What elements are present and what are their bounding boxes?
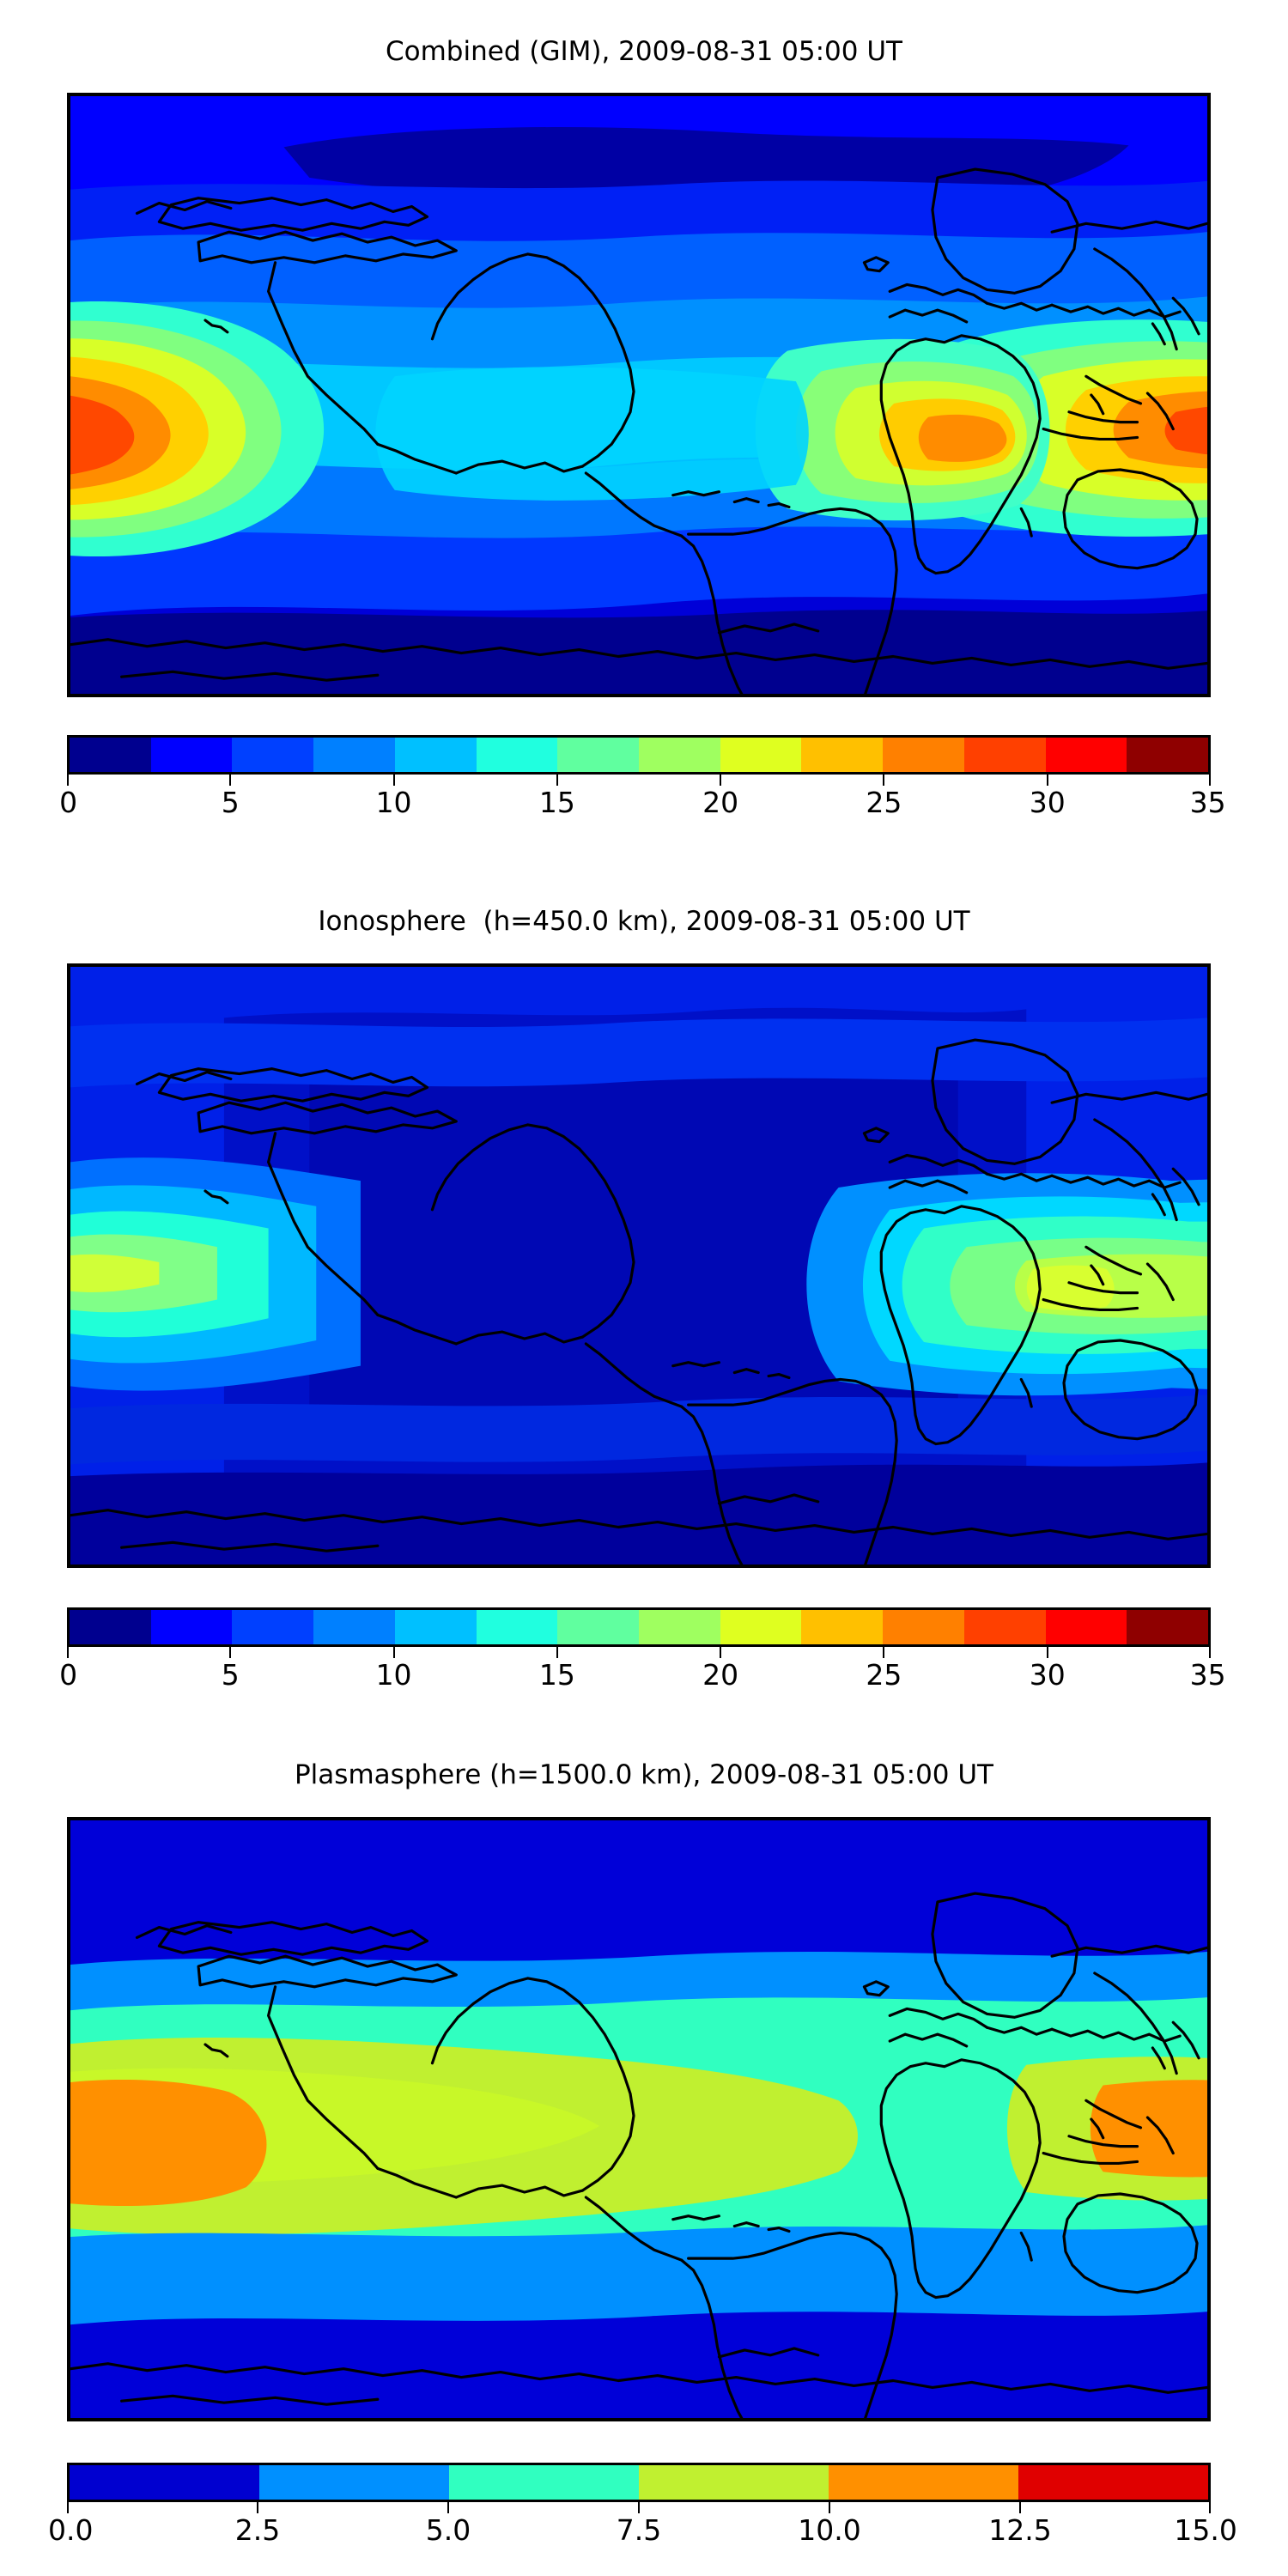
colorbar-tick-label: 30 [1030, 1659, 1066, 1692]
colorbar-segment [557, 1610, 639, 1644]
colorbar-segment [232, 1610, 313, 1644]
colorbar-combined: 05101520253035 [67, 735, 1211, 824]
colorbar-tick-label: 25 [866, 1659, 902, 1692]
colorbar-tick-label: 15.0 [1174, 2514, 1236, 2547]
colorbar-segment [313, 1610, 395, 1644]
colorbar-segment [639, 1610, 720, 1644]
colorbar-segment [151, 738, 233, 772]
panel-title-plasmasphere: Plasmasphere (h=1500.0 km), 2009-08-31 0… [0, 1762, 1288, 1789]
colorbar-tick [556, 1647, 558, 1658]
colorbar-tick [883, 1647, 884, 1658]
colorbar-segment [70, 1610, 151, 1644]
colorbar-tick-label: 2.5 [235, 2514, 280, 2547]
colorbar-segment [557, 738, 639, 772]
colorbar-tick [447, 2502, 449, 2513]
colorbar-tick-label: 10 [376, 1659, 412, 1692]
colorbar-tick [720, 1647, 721, 1658]
panel-combined-gim: Combined (GIM), 2009-08-31 05:00 UT [0, 0, 1288, 859]
colorbar-track-ionosphere [67, 1607, 1211, 1647]
colorbar-tick [1047, 1647, 1048, 1658]
colorbar-tick-label: 20 [702, 1659, 738, 1692]
colorbar-tick-label: 12.5 [988, 2514, 1051, 2547]
colorbar-labels-ionosphere: 05101520253035 [67, 1659, 1211, 1697]
colorbar-tick-label: 5.0 [426, 2514, 471, 2547]
colorbar-tick [67, 775, 69, 786]
colorbar-segment [1018, 2465, 1208, 2500]
colorbar-tick-label: 35 [1190, 787, 1226, 819]
colorbar-tick [67, 2502, 69, 2513]
colorbar-tick-label: 20 [702, 787, 738, 819]
figure-root: Combined (GIM), 2009-08-31 05:00 UT [0, 0, 1288, 2576]
colorbar-labels-combined: 05101520253035 [67, 787, 1211, 824]
colorbar-ticks-plasmasphere [67, 2502, 1211, 2514]
colorbar-tick-label: 0 [59, 1659, 77, 1692]
colorbar-segment [70, 2465, 259, 2500]
colorbar-tick-label: 7.5 [617, 2514, 661, 2547]
colorbar-segment [801, 1610, 883, 1644]
colorbar-tick [829, 2502, 830, 2513]
colorbar-tick-label: 10 [376, 787, 412, 819]
colorbar-ticks-combined [67, 775, 1211, 787]
colorbar-ionosphere: 05101520253035 [67, 1607, 1211, 1697]
colorbar-segment [829, 2465, 1018, 2500]
panel-title-ionosphere: Ionosphere (h=450.0 km), 2009-08-31 05:0… [0, 908, 1288, 935]
colorbar-segment [1127, 1610, 1208, 1644]
colorbar-segment [883, 1610, 964, 1644]
colorbar-tick [1047, 775, 1048, 786]
colorbar-segment [639, 738, 720, 772]
colorbar-segment [449, 2465, 639, 2500]
colorbar-segment [964, 738, 1046, 772]
map-canvas-ionosphere [70, 967, 1207, 1564]
colorbar-segment [259, 2465, 449, 2500]
map-combined-gim [67, 93, 1211, 697]
colorbar-plasmasphere: 0.02.55.07.510.012.515.0 [67, 2463, 1211, 2552]
colorbar-tick [638, 2502, 640, 2513]
colorbar-tick [720, 775, 721, 786]
colorbar-segment [1046, 1610, 1127, 1644]
colorbar-segment [964, 1610, 1046, 1644]
panel-title-combined: Combined (GIM), 2009-08-31 05:00 UT [0, 39, 1288, 65]
colorbar-tick-label: 15 [539, 1659, 575, 1692]
colorbar-tick [1019, 2502, 1021, 2513]
colorbar-tick-label: 5 [222, 1659, 240, 1692]
colorbar-segment [883, 738, 964, 772]
colorbar-tick-label: 15 [539, 787, 575, 819]
colorbar-segment [639, 2465, 829, 2500]
colorbar-segment [151, 1610, 233, 1644]
colorbar-tick [1209, 1647, 1211, 1658]
colorbar-segment [477, 738, 558, 772]
colorbar-segment [1046, 738, 1127, 772]
colorbar-tick [883, 775, 884, 786]
colorbar-tick-label: 25 [866, 787, 902, 819]
colorbar-tick-label: 30 [1030, 787, 1066, 819]
map-ionosphere [67, 963, 1211, 1568]
colorbar-tick-label: 0.0 [48, 2514, 93, 2547]
colorbar-segment [313, 738, 395, 772]
panel-plasmasphere: Plasmasphere (h=1500.0 km), 2009-08-31 0… [0, 1743, 1288, 2576]
colorbar-track-plasmasphere [67, 2463, 1211, 2502]
colorbar-segment [395, 738, 477, 772]
map-plasmasphere [67, 1817, 1211, 2421]
colorbar-tick-label: 5 [222, 787, 240, 819]
colorbar-tick-label: 35 [1190, 1659, 1226, 1692]
colorbar-tick [229, 1647, 231, 1658]
panel-ionosphere: Ionosphere (h=450.0 km), 2009-08-31 05:0… [0, 884, 1288, 1743]
colorbar-segment [1127, 738, 1208, 772]
colorbar-tick [229, 775, 231, 786]
colorbar-segment [720, 1610, 802, 1644]
colorbar-segment [70, 738, 151, 772]
map-canvas-combined [70, 96, 1207, 694]
colorbar-segment [232, 738, 313, 772]
colorbar-tick [393, 1647, 395, 1658]
colorbar-tick-label: 10.0 [798, 2514, 860, 2547]
colorbar-tick-label: 0 [59, 787, 77, 819]
colorbar-segment [720, 738, 802, 772]
colorbar-segment [395, 1610, 477, 1644]
colorbar-tick [556, 775, 558, 786]
colorbar-tick [393, 775, 395, 786]
colorbar-track-combined [67, 735, 1211, 775]
colorbar-tick [67, 1647, 69, 1658]
colorbar-tick [1209, 775, 1211, 786]
colorbar-labels-plasmasphere: 0.02.55.07.510.012.515.0 [67, 2514, 1211, 2552]
colorbar-segment [801, 738, 883, 772]
colorbar-segment [477, 1610, 558, 1644]
colorbar-ticks-ionosphere [67, 1647, 1211, 1659]
colorbar-tick [257, 2502, 258, 2513]
colorbar-tick [1209, 2502, 1211, 2513]
map-canvas-plasmasphere [70, 1820, 1207, 2418]
